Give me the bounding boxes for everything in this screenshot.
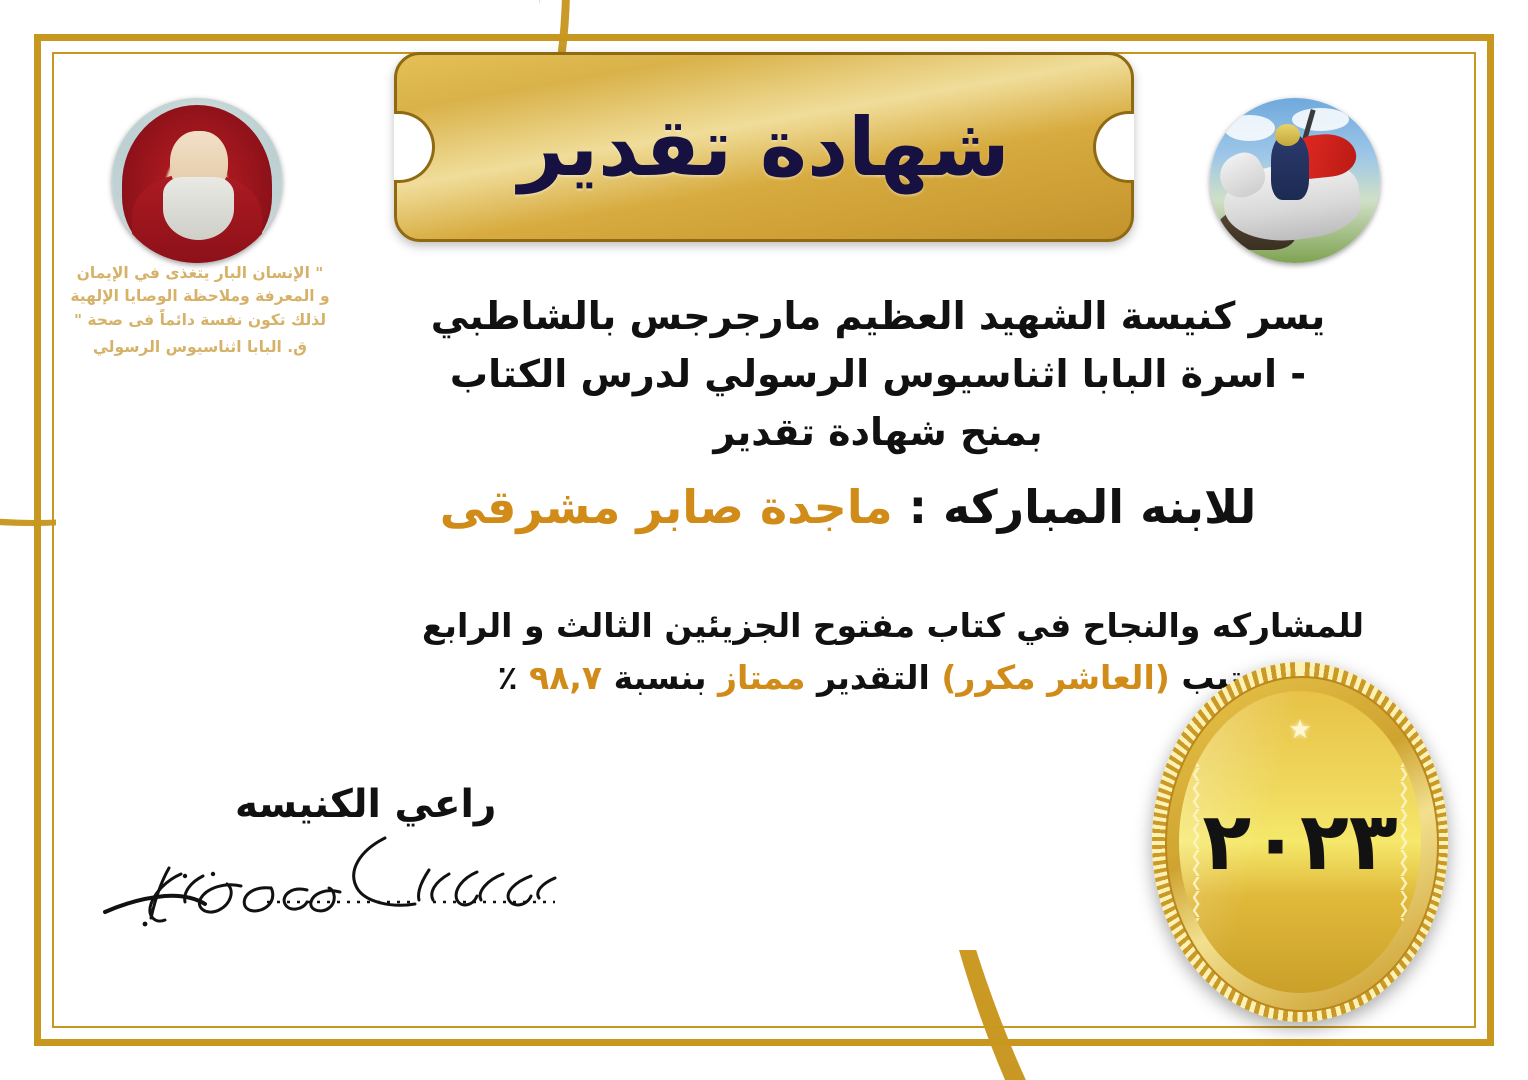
handwritten-signature-icon bbox=[85, 830, 625, 930]
recipient-block: للابنه المباركه : ماجدة صابر مشرقى bbox=[348, 478, 1348, 538]
title-plaque: شهادة تقدير bbox=[394, 52, 1134, 242]
saint-george-icon bbox=[1210, 98, 1380, 263]
athanasius-background bbox=[112, 98, 282, 263]
percent-sign: ٪ bbox=[497, 658, 517, 697]
helmet-shape bbox=[1275, 124, 1301, 145]
george-background bbox=[1210, 98, 1380, 263]
recipient-label: للابنه المباركه : bbox=[909, 480, 1257, 534]
medal-face: ★ ❯❯❯❯ ❯❯❯❯ ❯❯❯❯ ❯❯❯❯ ❮❮❮❮ ❮❮❮❮ ❮❮❮❮ ❮❮❮… bbox=[1179, 691, 1422, 993]
body-line-2: - اسرة البابا اثناسيوس الرسولي لدرس الكت… bbox=[358, 346, 1398, 404]
recipient-name: ماجدة صابر مشرقى bbox=[440, 480, 893, 534]
certificate-canvas: شهادة تقدير " الإنسان البار يتغذى في الإ… bbox=[0, 0, 1528, 1080]
quote-line-2: و المعرفة وملاحظة الوصايا الإلهية bbox=[70, 285, 330, 308]
achievement-rank: (العاشر مكرر) bbox=[941, 658, 1170, 697]
page-title: شهادة تقدير bbox=[394, 52, 1134, 242]
beard-shape bbox=[163, 177, 234, 240]
quote-line-1: " الإنسان البار يتغذى في الإيمان bbox=[70, 262, 330, 285]
signature-area bbox=[85, 830, 625, 930]
achievement-percentage: ٩٨,٧ bbox=[529, 658, 602, 697]
body-line-3: بمنح شهادة تقدير bbox=[358, 404, 1398, 462]
body-text-block: يسر كنيسة الشهيد العظيم مارجرجس بالشاطبي… bbox=[358, 288, 1398, 461]
pope-athanasius-icon bbox=[112, 98, 282, 263]
achievement-grade: ممتاز bbox=[718, 658, 805, 697]
achievement-percent-label: بنسبة bbox=[614, 658, 707, 697]
quote-attribution: ق. البابا اثناسيوس الرسولي bbox=[70, 336, 330, 359]
achievement-line-1: للمشاركه والنجاح في كتاب مفتوح الجزيئين … bbox=[388, 600, 1398, 652]
gold-medal-seal: ★ ❯❯❯❯ ❯❯❯❯ ❯❯❯❯ ❯❯❯❯ ❮❮❮❮ ❮❮❮❮ ❮❮❮❮ ❮❮❮… bbox=[1152, 662, 1448, 1022]
quote-block: " الإنسان البار يتغذى في الإيمان و المعر… bbox=[70, 262, 330, 359]
body-line-1: يسر كنيسة الشهيد العظيم مارجرجس بالشاطبي bbox=[358, 288, 1398, 346]
signature-title: راعي الكنيسه bbox=[235, 782, 496, 827]
cloud-shape bbox=[1292, 108, 1350, 131]
cloud-shape bbox=[1224, 115, 1275, 141]
medal-year: ٢٠٢٣ bbox=[1179, 691, 1422, 993]
achievement-grade-label: التقدير bbox=[817, 658, 930, 697]
quote-line-3: لذلك تكون نفسة دائماً فى صحة " bbox=[70, 309, 330, 332]
